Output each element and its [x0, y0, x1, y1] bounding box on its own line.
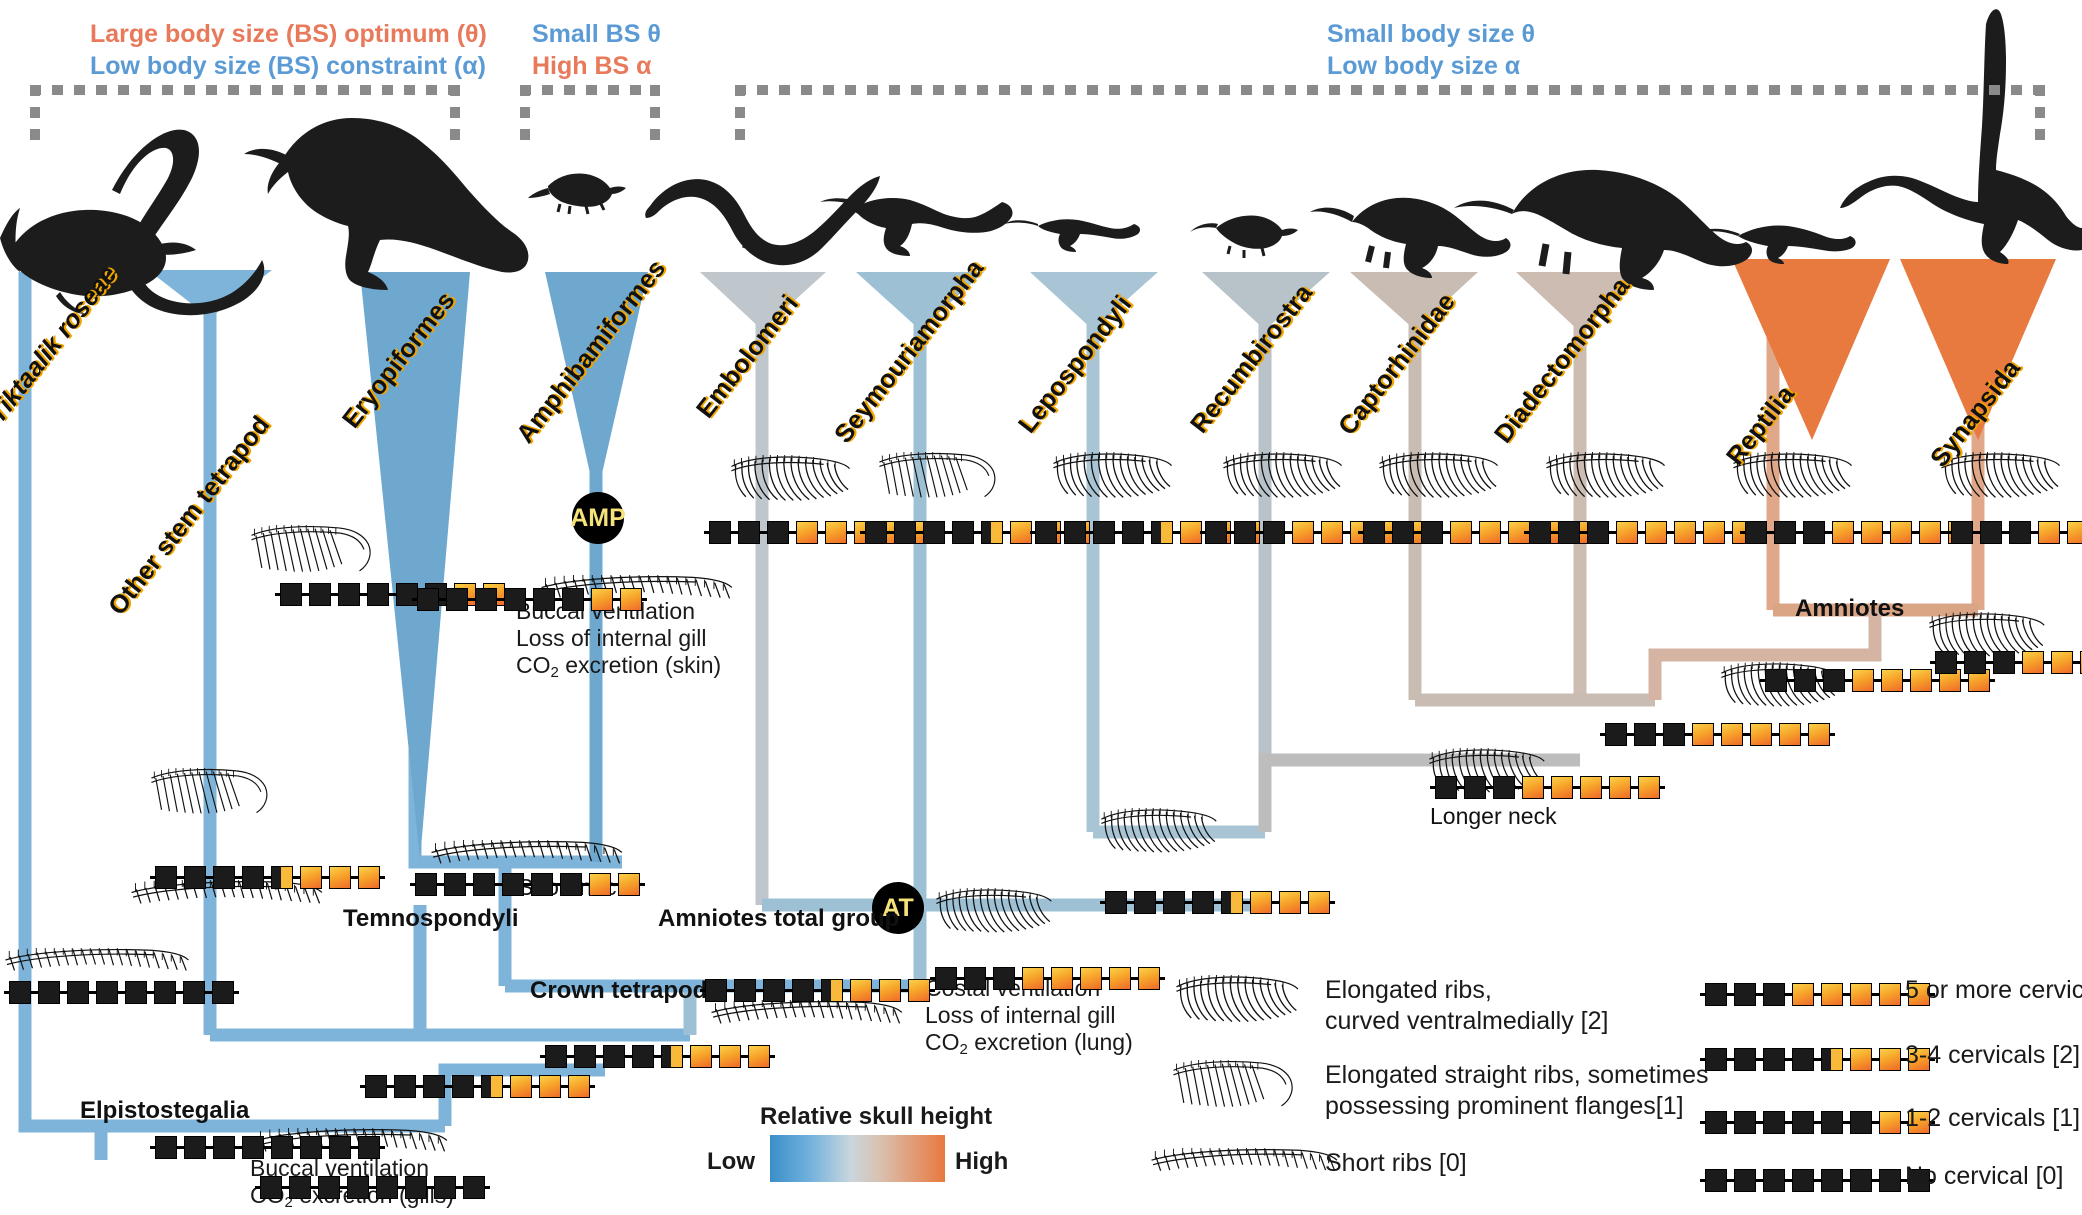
- taxon-label-reptilia: Reptilia: [1721, 381, 1801, 471]
- taxon-label-amphibamiformes: Amphibamiformes: [511, 255, 672, 449]
- vertebral-strip-reptilia: [1740, 520, 1975, 544]
- rib-legend-curved-line1: Elongated ribs,: [1325, 975, 1608, 1006]
- annotation-at-line3: CO2 excretion (lung): [925, 1029, 1133, 1056]
- header2-line-2: High BS α: [532, 52, 652, 80]
- rib-legend-label-curved: Elongated ribs, curved ventralmedially […: [1325, 975, 1608, 1036]
- taxon-label-synapsida: Synapsida: [1925, 355, 2026, 473]
- vertebral-strip-at-node: [930, 966, 1165, 990]
- cervical-legend-label-1: 1-2 cervicals [1]: [1905, 1103, 2080, 1133]
- vertebral-strip-diad-reptilia-node: [1600, 722, 1835, 746]
- header-small-bs: Small BS θ High BS α: [532, 18, 661, 82]
- taxon-label-eryopiformes: Eryopiformes: [337, 287, 461, 434]
- header-large-bs: Large body size (BS) optimum (θ) Low bod…: [90, 18, 487, 82]
- vertebral-strip-recumb-node: [1100, 890, 1335, 914]
- cervical-legend-label-3: 5 or more cervicals [3]: [1905, 975, 2082, 1005]
- vertebral-strip-crown-tetrapod-left: [360, 1074, 595, 1098]
- scale-legend-high-label: High: [955, 1148, 1008, 1176]
- vertebral-strip-at-node-left: [700, 978, 935, 1002]
- rib-legend-straight-line2: possessing prominent flanges[1]: [1325, 1091, 1709, 1122]
- cervical-legend-label-2: 3-4 cervicals [2]: [1905, 1040, 2080, 1070]
- taxon-label-other-stem-tetrapod: Other stem tetrapod: [103, 411, 276, 621]
- node-label-amniotes: Amniotes: [1795, 595, 1904, 623]
- header3-line-2: Low body size α: [1327, 52, 1520, 80]
- taxon-label-lepospondyli: Lepospondyli: [1013, 291, 1138, 439]
- annotation-at-line2: Loss of internal gill: [925, 1002, 1133, 1029]
- header2-line-1: Small BS θ: [532, 20, 661, 48]
- node-label-amniotes-total-group: Amniotes total group: [658, 905, 899, 933]
- taxon-label-diadectomorpha: Diadectomorpha: [1489, 273, 1636, 449]
- rib-legend-short-line1: Short ribs [0]: [1325, 1148, 1467, 1179]
- header-line-2: Low body size (BS) constraint (α): [90, 52, 486, 80]
- taxon-label-seymouriamorpha: Seymouriamorpha: [829, 255, 990, 449]
- vertebral-strip-amphibamiformes: [412, 587, 647, 611]
- annotation-amp-line3: CO2 excretion (skin): [516, 652, 721, 679]
- cervical-legend-strip-3: [1700, 982, 1935, 1006]
- node-badge-amp[interactable]: AMP: [572, 492, 624, 544]
- vertebral-strip-short-neck: [410, 872, 645, 896]
- cervical-legend-strip-2: [1700, 1047, 1935, 1071]
- annotation-amp-line2: Loss of internal gill: [516, 625, 721, 652]
- vertebral-strip-elpisto-node: [255, 1175, 490, 1199]
- cervical-legend-label-0: No cervical [0]: [1905, 1161, 2063, 1191]
- node-label-longer-neck: Longer neck: [1430, 803, 1557, 830]
- vertebral-strip-elpistostegalia: [150, 1135, 385, 1159]
- vertebral-strip-synapsida: [1946, 520, 2082, 544]
- node-label-crown-tetrapod: Crown tetrapod: [530, 977, 707, 1005]
- vertebral-strip-longer-neck: [1430, 775, 1665, 799]
- taxon-label-embolomeri: Embolomeri: [691, 290, 805, 424]
- overlay-layer: Large body size (BS) optimum (θ) Low bod…: [0, 0, 2082, 1215]
- header-small-body-size: Small body size θ Low body size α: [1327, 18, 1535, 82]
- cervical-legend-strip-1: [1700, 1110, 1935, 1134]
- scale-legend-title: Relative skull height: [760, 1103, 992, 1131]
- header-line-1: Large body size (BS) optimum (θ): [90, 20, 487, 48]
- skull-height-gradient-bar: [770, 1135, 945, 1182]
- rib-legend-curved-line2: curved ventralmedially [2]: [1325, 1006, 1608, 1037]
- vertebral-strip-crown-tetrapod-node: [540, 1044, 775, 1068]
- rib-legend-straight-line1: Elongated straight ribs, sometimes: [1325, 1060, 1709, 1091]
- node-label-temnospondyli: Temnospondyli: [343, 905, 519, 933]
- header3-line-1: Small body size θ: [1327, 20, 1535, 48]
- cervical-legend-strip-0: [1700, 1168, 1935, 1192]
- node-badge-amp-text: AMP: [570, 504, 626, 533]
- taxon-label-recumbirostra: Recumbirostra: [1185, 279, 1319, 439]
- scale-legend-low-label: Low: [707, 1148, 755, 1176]
- rib-legend-label-straight: Elongated straight ribs, sometimes posse…: [1325, 1060, 1709, 1121]
- vertebral-strip-tiktaalik: [4, 980, 239, 1004]
- vertebral-strip-amniotes-node: [1930, 650, 2082, 674]
- taxon-label-tiktaalik-roseae: Tiktaalik roseae: [0, 261, 124, 429]
- vertebral-strip-diadectomorpha: [1524, 520, 1759, 544]
- taxon-label-captorhinidae: Captorhinidae: [1333, 288, 1461, 441]
- node-label-elpistostegalia: Elpistostegalia: [80, 1097, 249, 1125]
- rib-legend-icon-short: [1150, 1148, 1350, 1194]
- vertebral-strip-other-stem-tetrapod: [150, 865, 385, 889]
- rib-legend-label-short: Short ribs [0]: [1325, 1148, 1467, 1179]
